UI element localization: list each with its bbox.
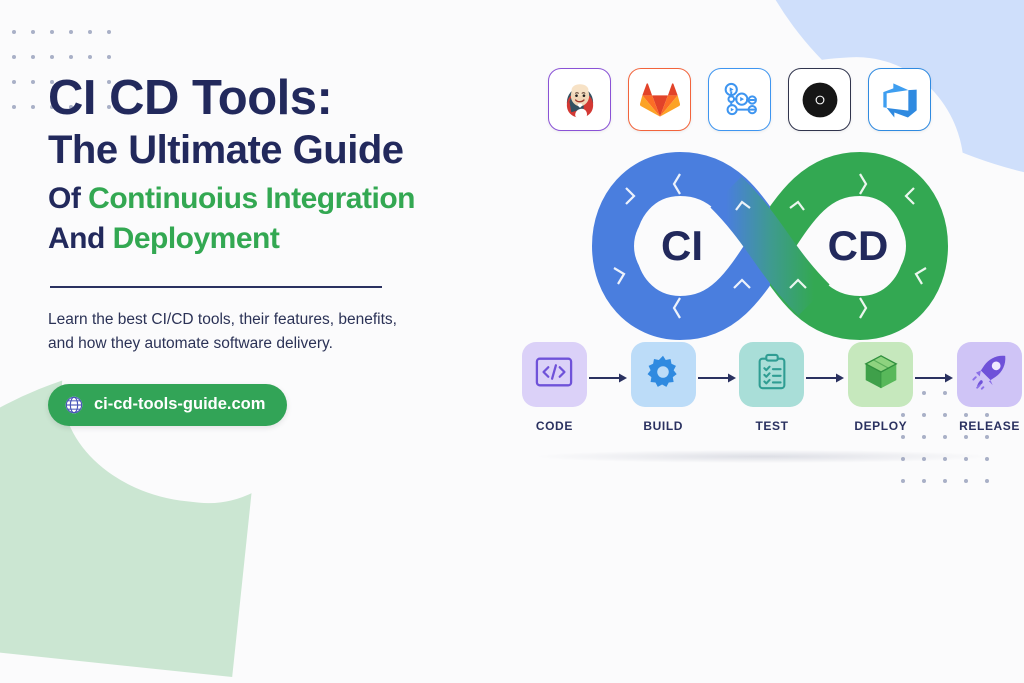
pipeline-stage-code[interactable]: CODE — [520, 342, 589, 433]
pipeline-arrow — [806, 372, 846, 384]
azure-devops-icon — [880, 80, 920, 120]
pipeline-arrow — [915, 372, 955, 384]
subtitle-text: Learn the best CI/CD tools, their featur… — [48, 308, 408, 356]
headline-line-3: Of Continuoius Integration — [48, 179, 518, 220]
headline-line-4-accent: Deployment — [113, 222, 280, 255]
pipeline-stage-test[interactable]: TEST — [738, 342, 807, 433]
url-badge[interactable]: ci-cd-tools-guide.com — [48, 384, 287, 426]
graphic-panel: CI CD CODE — [520, 0, 1024, 537]
gitlab-icon — [640, 80, 680, 120]
pipeline-stage-release[interactable]: RELEASE — [955, 342, 1024, 433]
headline-line-3-prefix: Of — [48, 182, 88, 215]
devops-infinity-loop: CI CD — [530, 148, 1010, 349]
pipeline-arrow — [698, 372, 738, 384]
gear-icon — [645, 354, 681, 395]
headline-line-1: CI CD Tools: — [48, 72, 518, 125]
pipeline-stage-label: CODE — [536, 419, 573, 433]
tool-chip-jenkins[interactable] — [548, 68, 611, 131]
loop-label-cd: CD — [828, 222, 889, 269]
clipboard-check-icon — [755, 353, 789, 396]
pipeline-stage-label: RELEASE — [959, 419, 1020, 433]
headline-block: CI CD Tools: The Ultimate Guide Of Conti… — [48, 72, 518, 426]
tool-chip-gitlab[interactable] — [628, 68, 691, 131]
headline-line-4: And Deployment — [48, 219, 518, 260]
jenkins-icon — [559, 79, 601, 121]
circleci-icon — [801, 81, 839, 119]
pipeline-stage-label: BUILD — [643, 419, 683, 433]
pipeline-stage-label: DEPLOY — [854, 419, 907, 433]
pipeline-stage-build[interactable]: BUILD — [629, 342, 698, 433]
headline-line-2: The Ultimate Guide — [48, 127, 518, 173]
loop-label-ci: CI — [661, 222, 703, 269]
code-brackets-icon — [535, 355, 573, 394]
tool-chip-pipeline[interactable] — [708, 68, 771, 131]
url-badge-label: ci-cd-tools-guide.com — [94, 395, 265, 414]
headline-line-3-accent: Continuoius Integration — [88, 182, 415, 215]
pipeline-shadow — [538, 450, 988, 463]
pipeline-arrow — [589, 372, 629, 384]
pipeline-flow-icon — [719, 79, 761, 121]
title-divider — [50, 286, 382, 288]
globe-icon — [64, 395, 84, 415]
pipeline-row: CODE BUILD — [520, 342, 1024, 433]
pipeline-stage-label: TEST — [755, 419, 788, 433]
tool-logo-row — [548, 68, 931, 131]
tool-chip-circleci[interactable] — [788, 68, 851, 131]
rocket-icon — [971, 353, 1009, 396]
tool-chip-azure-devops[interactable] — [868, 68, 931, 131]
page-title: CI CD Tools: The Ultimate Guide Of Conti… — [48, 72, 518, 260]
pipeline-stage-deploy[interactable]: DEPLOY — [846, 342, 915, 433]
headline-line-4-prefix: And — [48, 222, 113, 255]
cube-icon — [862, 353, 900, 396]
